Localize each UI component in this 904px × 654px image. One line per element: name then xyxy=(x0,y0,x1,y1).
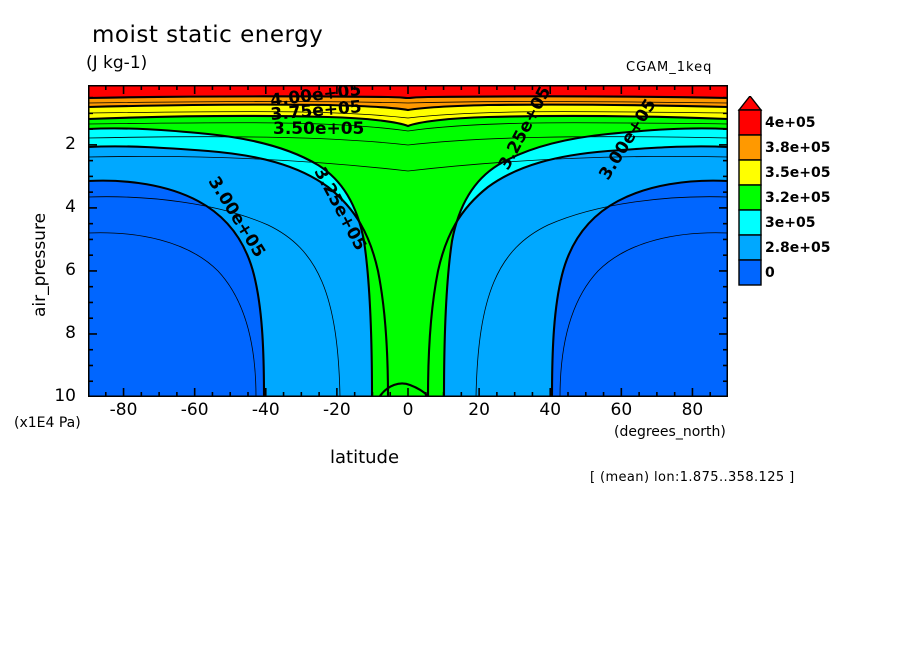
y-tick-labels: 246810 xyxy=(28,85,84,397)
x-axis-label: latitude xyxy=(330,447,399,468)
units-label: (J kg-1) xyxy=(86,53,147,73)
x-axis-unit: (degrees_north) xyxy=(614,424,726,440)
y-tick-label: 10 xyxy=(28,386,76,406)
x-tick-label: 80 xyxy=(662,400,722,420)
x-tick-label: -40 xyxy=(236,400,296,420)
page-title: moist static energy xyxy=(92,22,323,48)
colorbar-label: 3e+05 xyxy=(765,215,815,231)
colorbar-swatch xyxy=(739,210,761,235)
colorbar-label: 3.2e+05 xyxy=(765,190,831,206)
x-tick-label: 20 xyxy=(449,400,509,420)
x-tick-label: -20 xyxy=(307,400,367,420)
contour-plot: 4.00e+05 3.75e+05 3.50e+05 3.00e+05 3.25… xyxy=(88,85,728,397)
colorbar-arrow xyxy=(739,96,761,110)
y-tick-label: 4 xyxy=(28,197,76,217)
y-axis-unit: (x1E4 Pa) xyxy=(14,415,81,431)
colorbar-swatches xyxy=(735,96,769,308)
footer-note: [ (mean) lon:1.875..358.125 ] xyxy=(590,470,795,485)
colorbar-label: 0 xyxy=(765,265,775,281)
colorbar-swatch xyxy=(739,110,761,135)
colorbar-label: 3.5e+05 xyxy=(765,165,831,181)
x-tick-label: 60 xyxy=(591,400,651,420)
colorbar-swatch xyxy=(739,185,761,210)
y-tick-label: 2 xyxy=(28,134,76,154)
colorbar-swatch xyxy=(739,135,761,160)
colorbar-label: 2.8e+05 xyxy=(765,240,831,256)
colorbar-swatch xyxy=(739,260,761,285)
dataset-label: CGAM_1keq xyxy=(626,60,712,75)
colorbar-label: 3.8e+05 xyxy=(765,140,831,156)
colorbar: 4e+053.8e+053.5e+053.2e+053e+052.8e+050 xyxy=(735,96,769,308)
colorbar-swatch xyxy=(739,160,761,185)
x-tick-labels: -80-60-40-20020406080 xyxy=(88,400,728,424)
colorbar-label: 4e+05 xyxy=(765,115,815,131)
y-tick-label: 6 xyxy=(28,260,76,280)
x-tick-label: 40 xyxy=(520,400,580,420)
x-tick-label: -80 xyxy=(94,400,154,420)
colorbar-swatch xyxy=(739,235,761,260)
x-tick-label: -60 xyxy=(165,400,225,420)
contour-label-350k: 3.50e+05 xyxy=(273,119,364,139)
x-tick-label: 0 xyxy=(378,400,438,420)
y-tick-label: 8 xyxy=(28,323,76,343)
